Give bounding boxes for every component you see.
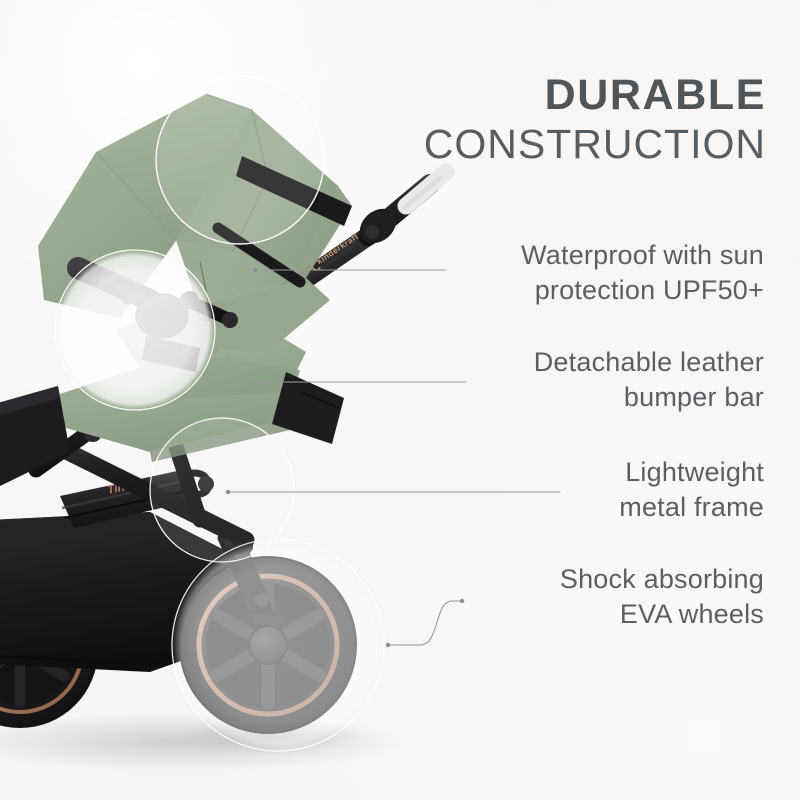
- headline-line-1: DURABLE: [424, 74, 766, 117]
- basket-rail: Tineo: [60, 470, 208, 528]
- ground-shadow-wheel: [173, 716, 363, 756]
- stroller-frame: [36, 228, 380, 540]
- headline-line-2: CONSTRUCTION: [424, 124, 766, 165]
- brand-hub-logo: [132, 400, 152, 418]
- push-handle: kinderkraft: [309, 172, 446, 272]
- ground-shadow: [0, 712, 410, 772]
- feature-label-bumper-bar: Detachable leather bumper bar: [434, 345, 764, 414]
- model-wordmark: Tineo: [106, 477, 140, 497]
- svg-text:kinderkraft: kinderkraft: [314, 231, 360, 266]
- storage-basket: [0, 512, 240, 672]
- canopy-hood: [38, 94, 352, 352]
- highlight-circle-basket: [150, 418, 294, 562]
- highlight-circle-handle: [55, 250, 215, 410]
- infographic-canvas: Tineo: [0, 0, 800, 800]
- canopy-zip-pull: [200, 262, 210, 322]
- bumper-bar: [78, 268, 238, 372]
- highlight-circle-canopy: [156, 76, 324, 244]
- brand-wordmark: kinderkraft: [309, 231, 361, 272]
- rear-wheel: [0, 572, 98, 728]
- feature-label-eva-wheels: Shock absorbing EVA wheels: [434, 562, 764, 631]
- front-fork: [222, 532, 288, 628]
- feature-label-metal-frame: Lightweight metal frame: [434, 455, 764, 524]
- leader-line-bumper: [226, 352, 466, 382]
- front-wheel: [180, 557, 356, 733]
- highlight-circle-wheel: [172, 539, 384, 751]
- headline-block: DURABLE CONSTRUCTION: [424, 74, 766, 165]
- seat-unit: [0, 296, 344, 486]
- feature-label-waterproof: Waterproof with sun protection UPF50+: [434, 238, 764, 307]
